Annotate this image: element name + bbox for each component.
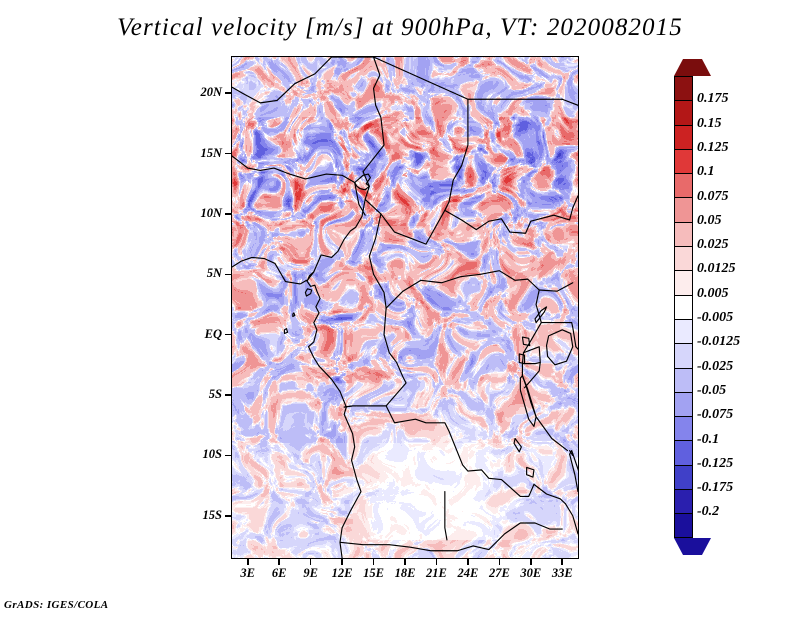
coastline-border-overlay [232, 57, 578, 558]
y-tick-mark [225, 213, 231, 215]
colorbar-tick-label: 0.15 [697, 116, 722, 132]
colorbar-cell [674, 440, 693, 464]
y-tick-label: 10S [176, 447, 222, 462]
colorbar-tick-label: -0.075 [697, 407, 733, 423]
colorbar-cell [674, 246, 693, 270]
grads-credit: GrADS: IGES/COLA [4, 599, 109, 611]
colorbar-tick-label: -0.0125 [697, 334, 740, 350]
colorbar-tick-label: 0.075 [697, 189, 729, 205]
colorbar-tick-label: -0.005 [697, 310, 733, 326]
colorbar-cell [674, 465, 693, 489]
y-tick-label: 15S [176, 508, 222, 523]
x-tick-mark [467, 559, 469, 565]
y-tick-mark [225, 334, 231, 336]
y-tick-label: 15N [176, 146, 222, 161]
colorbar-cell [674, 319, 693, 343]
y-tick-mark [225, 92, 231, 94]
colorbar-cell [674, 173, 693, 197]
colorbar-tick-label: -0.1 [697, 432, 719, 448]
x-tick-mark [310, 559, 312, 565]
map-plot-area [232, 57, 578, 558]
x-tick-mark [404, 559, 406, 565]
colorbar-tick-label: -0.125 [697, 456, 733, 472]
colorbar-cell [674, 222, 693, 246]
x-tick-mark [530, 559, 532, 565]
colorbar-cell [674, 416, 693, 440]
x-tick-mark [436, 559, 438, 565]
y-tick-label: 5S [176, 387, 222, 402]
colorbar-cells [674, 76, 693, 538]
colorbar-cell [674, 368, 693, 392]
y-tick-mark [225, 394, 231, 396]
colorbar-tick-label: -0.025 [697, 359, 733, 375]
y-tick-mark [225, 274, 231, 276]
y-tick-mark [225, 455, 231, 457]
chart-title: Vertical velocity [m/s] at 900hPa, VT: 2… [0, 14, 800, 42]
colorbar-cell [674, 489, 693, 513]
colorbar-tick-label: 0.025 [697, 237, 729, 253]
colorbar-tick-label: 0.175 [697, 91, 729, 107]
colorbar-tick-label: -0.2 [697, 504, 719, 520]
colorbar-cell [674, 343, 693, 367]
y-tick-label: EQ [176, 327, 222, 342]
y-tick-mark [225, 515, 231, 517]
colorbar-tick-label: 0.125 [697, 140, 729, 156]
colorbar-tick-label: 0.1 [697, 164, 715, 180]
colorbar-cell [674, 270, 693, 294]
colorbar-cell [674, 392, 693, 416]
x-tick-mark [247, 559, 249, 565]
y-tick-label: 5N [176, 266, 222, 281]
x-tick-mark [278, 559, 280, 565]
x-tick-mark [499, 559, 501, 565]
colorbar-tick-label: -0.175 [697, 480, 733, 496]
colorbar-cell [674, 513, 693, 537]
colorbar-cell [674, 295, 693, 319]
y-tick-mark [225, 153, 231, 155]
x-tick-mark [341, 559, 343, 565]
colorbar-tick-label: 0.005 [697, 286, 729, 302]
x-tick-label: 33E [542, 566, 582, 581]
x-tick-mark [373, 559, 375, 565]
colorbar-tick-label: -0.05 [697, 383, 726, 399]
colorbar-min-arrow [674, 538, 711, 555]
colorbar-cell [674, 76, 693, 100]
colorbar-tick-label: 0.05 [697, 213, 722, 229]
colorbar-cell [674, 197, 693, 221]
y-tick-label: 20N [176, 85, 222, 100]
colorbar-tick-label: 0.0125 [697, 261, 736, 277]
colorbar-cell [674, 125, 693, 149]
colorbar-cell [674, 149, 693, 173]
y-tick-label: 10N [176, 206, 222, 221]
x-tick-mark [561, 559, 563, 565]
colorbar-max-arrow [674, 59, 711, 76]
colorbar-cell [674, 100, 693, 124]
